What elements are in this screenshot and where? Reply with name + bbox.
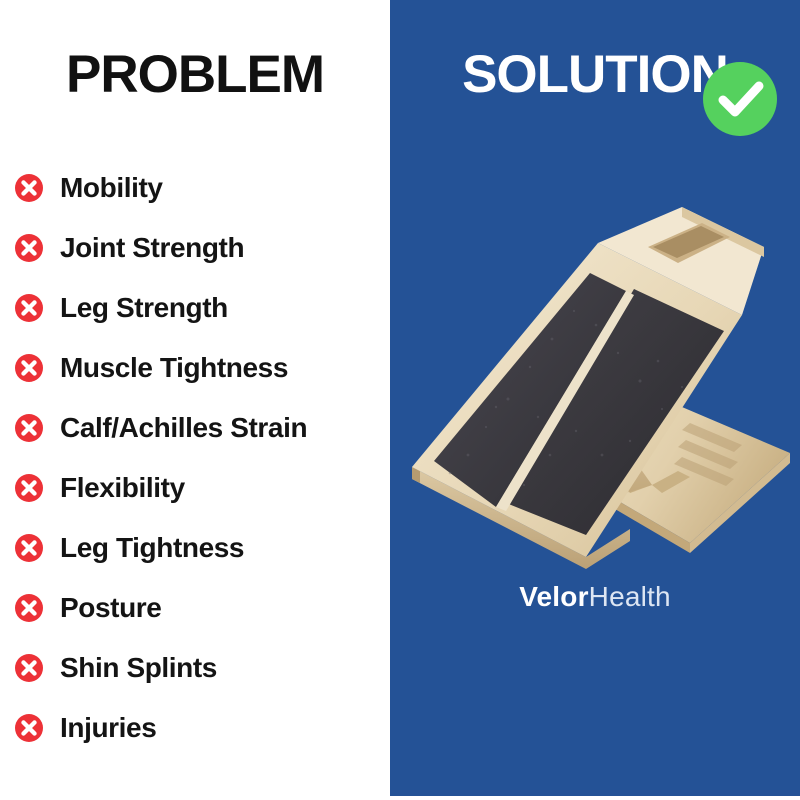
problem-list-item: Injuries [14,698,400,758]
problem-list-item: Mobility [14,158,400,218]
problem-item-label: Injuries [60,714,156,742]
x-circle-icon [14,413,44,443]
problem-list: MobilityJoint StrengthLeg StrengthMuscle… [14,158,400,758]
problem-title: PROBLEM [0,44,390,105]
x-circle-icon [14,653,44,683]
brand-name-secondary: Health [589,581,671,612]
problem-list-item: Muscle Tightness [14,338,400,398]
problem-list-item: Shin Splints [14,638,400,698]
x-circle-icon [14,533,44,563]
x-circle-icon [14,353,44,383]
x-circle-icon [14,293,44,323]
solution-panel: SOLUTION [390,0,800,800]
problem-list-item: Flexibility [14,458,400,518]
problem-list-item: Joint Strength [14,218,400,278]
brand-name-primary: Velor [519,581,588,612]
problem-item-label: Leg Tightness [60,534,244,562]
comparison-graphic: PROBLEM MobilityJoint StrengthLeg Streng… [0,0,800,800]
problem-item-label: Muscle Tightness [60,354,288,382]
x-circle-icon [14,713,44,743]
problem-item-label: Mobility [60,174,163,202]
check-circle-icon [701,60,779,138]
problem-item-label: Leg Strength [60,294,228,322]
x-circle-icon [14,593,44,623]
brand-logo: VelorHealth [390,583,800,611]
problem-list-item: Leg Tightness [14,518,400,578]
problem-item-label: Flexibility [60,474,185,502]
problem-list-item: Leg Strength [14,278,400,338]
product-image [390,155,800,575]
x-circle-icon [14,473,44,503]
problem-list-item: Calf/Achilles Strain [14,398,400,458]
problem-list-item: Posture [14,578,400,638]
problem-item-label: Posture [60,594,161,622]
x-circle-icon [14,173,44,203]
problem-panel: PROBLEM MobilityJoint StrengthLeg Streng… [0,0,390,800]
bottom-edge-strip [0,796,800,800]
problem-item-label: Shin Splints [60,654,217,682]
problem-item-label: Calf/Achilles Strain [60,414,307,442]
x-circle-icon [14,233,44,263]
problem-item-label: Joint Strength [60,234,244,262]
